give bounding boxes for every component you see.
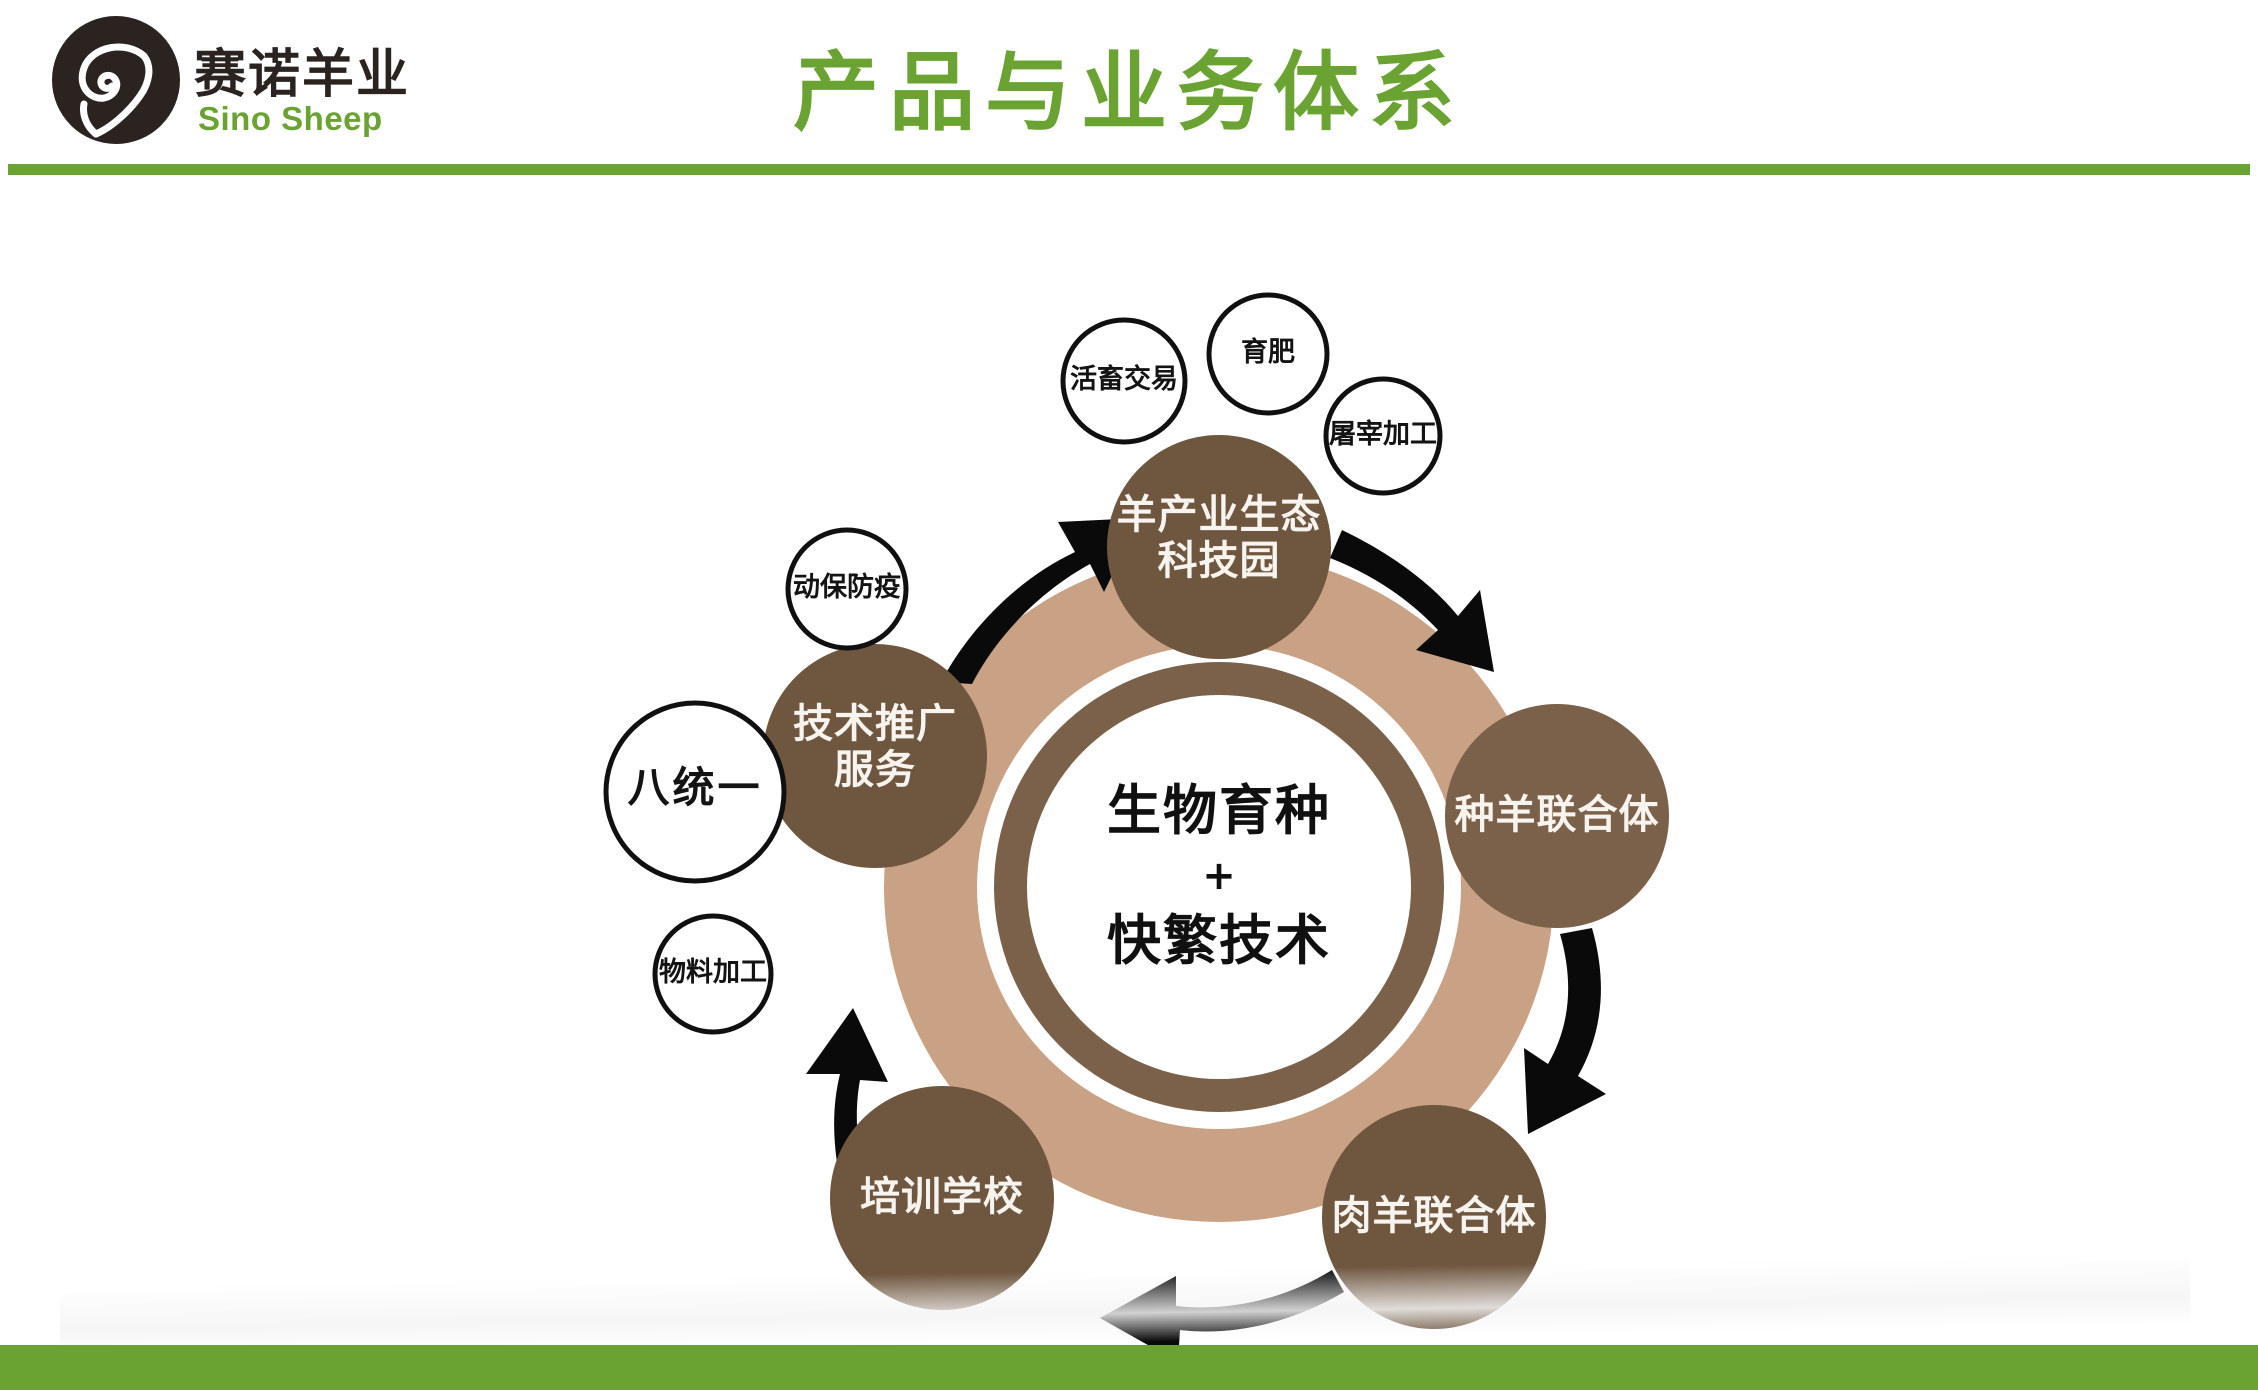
page-title: 产品与业务体系: [0, 22, 2258, 147]
node-tech-extension: [763, 644, 987, 868]
slide-header: 赛诺羊业 Sino Sheep 产品与业务体系: [0, 0, 2258, 172]
node-eight-unified: [606, 703, 784, 881]
node-fattening: [1209, 295, 1327, 413]
node-slaughter-process: [1326, 379, 1440, 493]
node-sheep-eco-park: [1107, 435, 1331, 659]
footer-bar: [0, 1345, 2258, 1390]
node-training-school: [830, 1086, 1054, 1310]
ring-core-white: [1027, 695, 1411, 1079]
node-breeding-union: [1445, 704, 1669, 928]
node-livestock-trading: [1063, 320, 1185, 442]
business-system-diagram: 羊产业生态 科技园 种羊联合体 肉羊联合体 培训学校 技术推广 服务 活畜交易 …: [0, 172, 2258, 1347]
slide-canvas: 赛诺羊业 Sino Sheep 产品与业务体系: [0, 0, 2258, 1390]
node-disease-control: [788, 530, 906, 648]
arrow-meat-to-training: [1100, 1270, 1344, 1347]
node-meat-sheep-union: [1322, 1105, 1546, 1329]
node-feed-processing: [655, 916, 771, 1032]
